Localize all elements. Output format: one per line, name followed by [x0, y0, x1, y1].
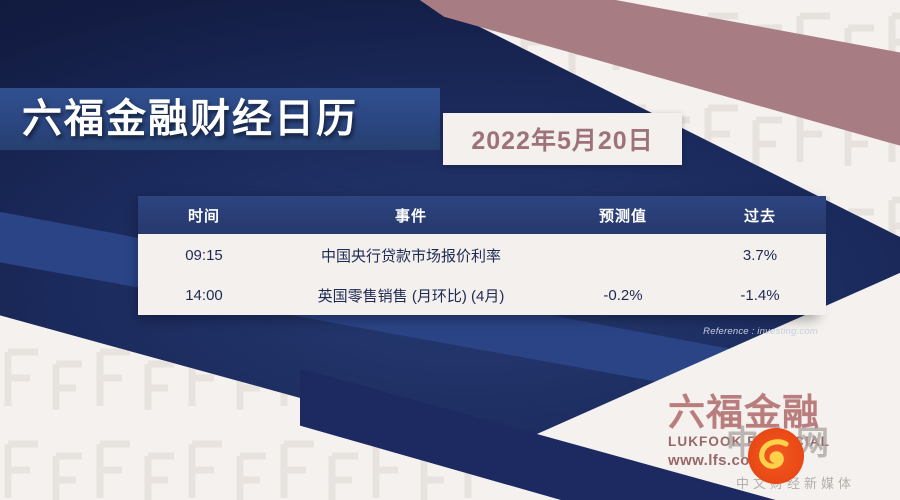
cell-past: 3.7% [694, 234, 826, 275]
calendar-panel: 时间 事件 预测值 过去 09:15 中国央行贷款市场报价利率 3.7% 14:… [138, 196, 818, 315]
calendar-graphic: 六福金融财经日历 2022年5月20日 时间 事件 预测值 过去 09:15 中… [0, 0, 900, 500]
cell-event: 中国央行贷款市场报价利率 [270, 234, 552, 275]
events-table-head: 时间 事件 预测值 过去 [138, 196, 826, 234]
events-table: 时间 事件 预测值 过去 09:15 中国央行贷款市场报价利率 3.7% 14:… [138, 196, 826, 315]
col-header-time: 时间 [138, 196, 270, 234]
reference-note: Reference : investing.com [638, 326, 818, 337]
col-header-event: 事件 [270, 196, 552, 234]
page-title: 六福金融财经日历 [22, 92, 358, 146]
cell-forecast: -0.2% [552, 275, 694, 315]
col-header-past: 过去 [694, 196, 826, 234]
col-header-forecast: 预测值 [552, 196, 694, 234]
cell-time: 14:00 [138, 275, 270, 315]
cell-past: -1.4% [694, 275, 826, 315]
date-label: 2022年5月20日 [443, 113, 682, 165]
table-row: 14:00 英国零售销售 (月环比) (4月) -0.2% -1.4% [138, 275, 826, 315]
cell-time: 09:15 [138, 234, 270, 275]
table-header-row: 时间 事件 预测值 过去 [138, 196, 826, 234]
events-table-body: 09:15 中国央行贷款市场报价利率 3.7% 14:00 英国零售销售 (月环… [138, 234, 826, 315]
table-row: 09:15 中国央行贷款市场报价利率 3.7% [138, 234, 826, 275]
cell-event: 英国零售销售 (月环比) (4月) [270, 275, 552, 315]
cell-forecast [552, 234, 694, 275]
